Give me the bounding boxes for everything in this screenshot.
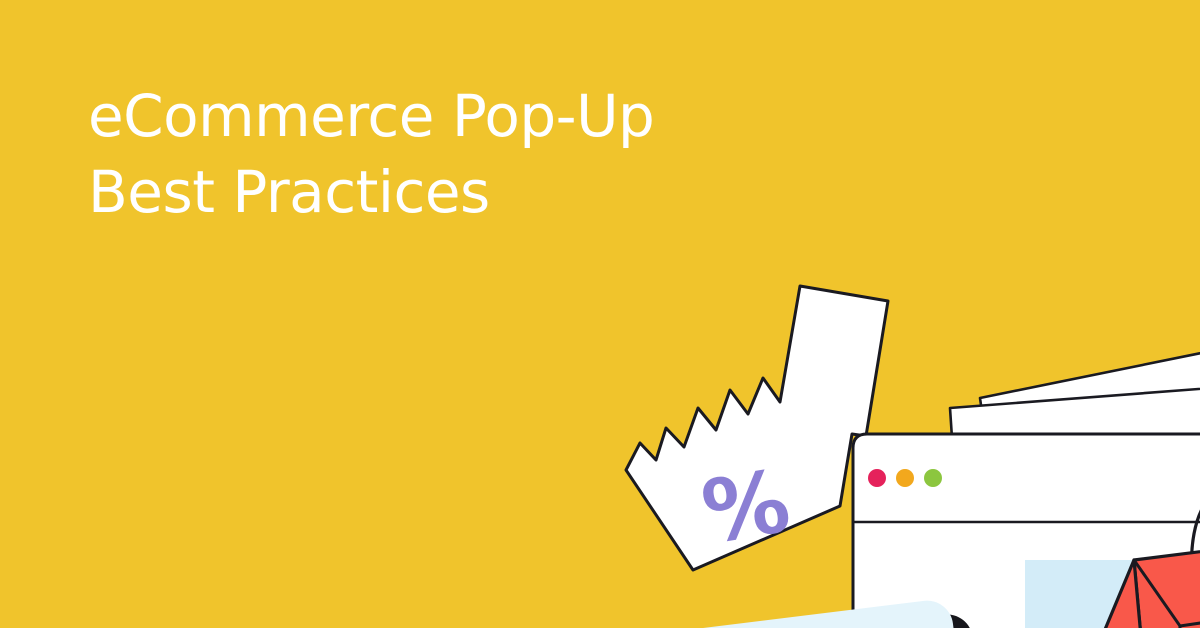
title-line-2: Best Practices bbox=[88, 154, 788, 230]
discount-ticket: % bbox=[626, 286, 888, 570]
percent-symbol: % bbox=[696, 451, 797, 563]
browser-traffic-lights bbox=[868, 469, 942, 487]
dot-close-icon bbox=[868, 469, 886, 487]
dot-minimize-icon bbox=[896, 469, 914, 487]
page-title: eCommerce Pop-Up Best Practices bbox=[88, 78, 788, 230]
popup-card-blue-body bbox=[513, 598, 1006, 628]
title-line-1: eCommerce Pop-Up bbox=[88, 78, 788, 154]
dot-maximize-icon bbox=[924, 469, 942, 487]
ecommerce-popup-illustration: % bbox=[480, 238, 1200, 628]
banner-root: eCommerce Pop-Up Best Practices % bbox=[0, 0, 1200, 628]
